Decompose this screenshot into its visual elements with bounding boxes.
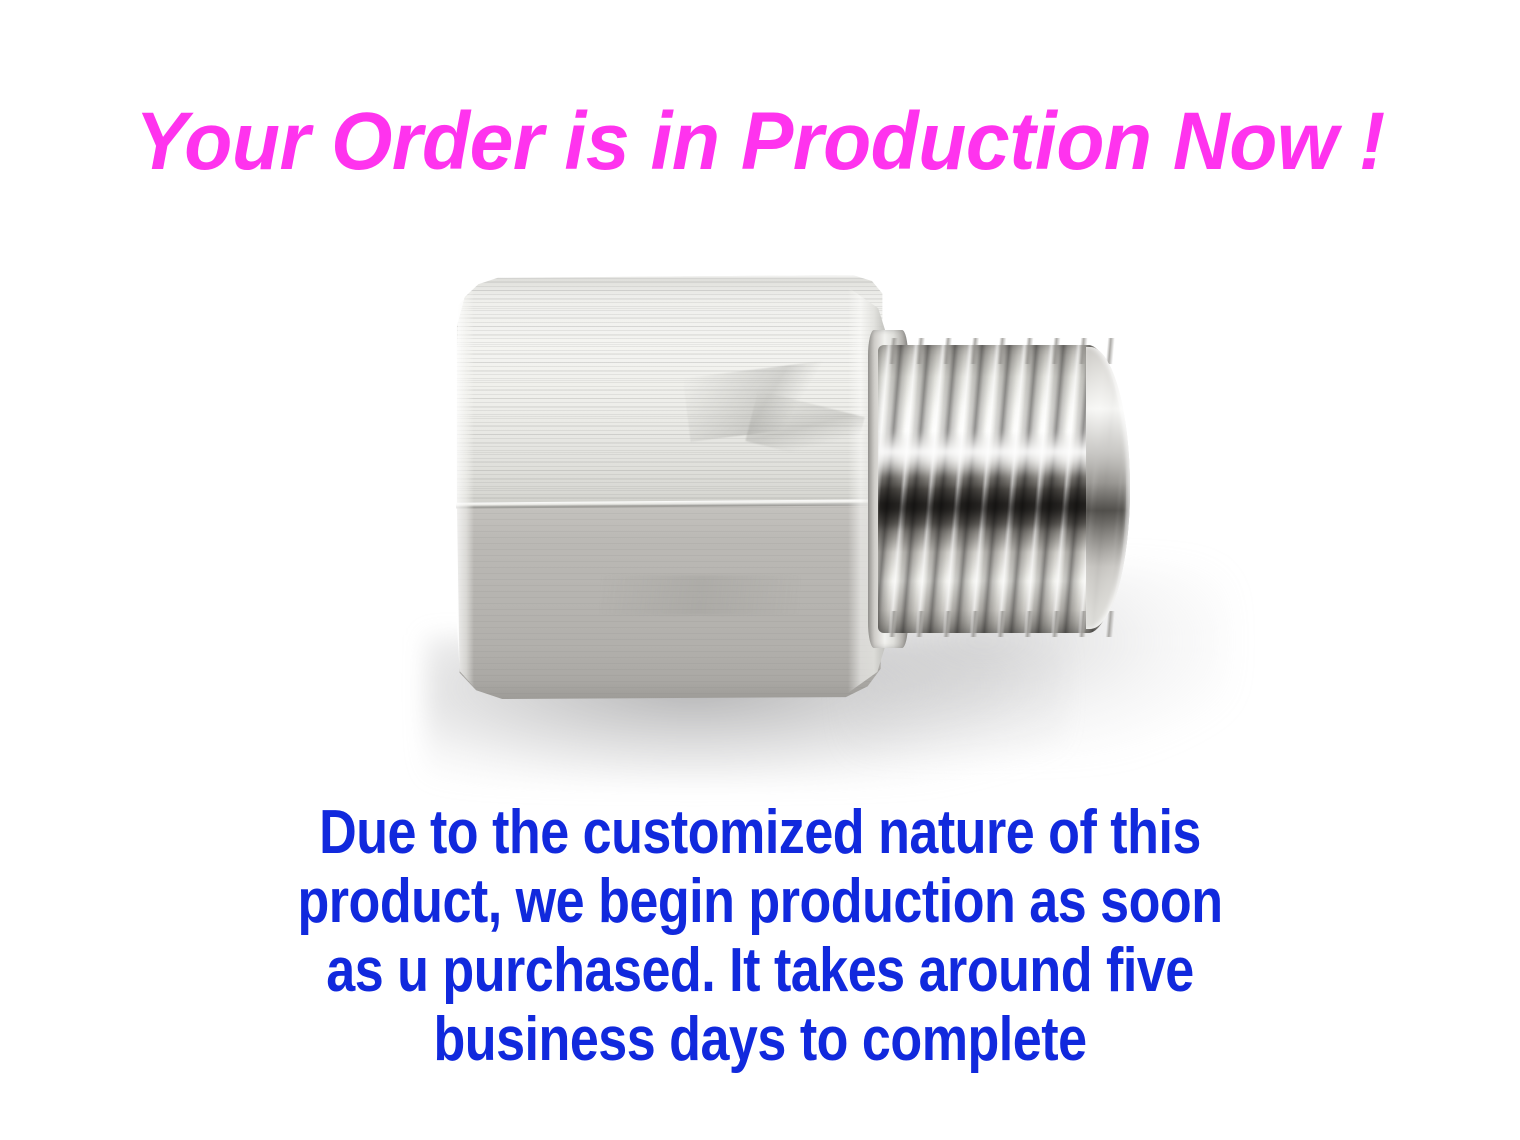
body-copy-line: as u purchased. It takes around five <box>122 936 1399 1005</box>
body-copy-line: business days to complete <box>122 1005 1399 1074</box>
hex-left-chamfer <box>448 289 474 687</box>
body-copy: Due to the customized nature of this pro… <box>122 798 1399 1074</box>
body-copy-line: Due to the customized nature of this <box>122 798 1399 867</box>
promo-banner: Your Order is in Production Now ! <box>0 0 1520 1140</box>
body-copy-line: product, we begin production as soon <box>122 867 1399 936</box>
hex-body <box>450 275 885 700</box>
product-photo <box>330 235 1210 795</box>
headline-text: Your Order is in Production Now ! <box>30 96 1489 188</box>
hex-machining-mark <box>600 575 800 615</box>
